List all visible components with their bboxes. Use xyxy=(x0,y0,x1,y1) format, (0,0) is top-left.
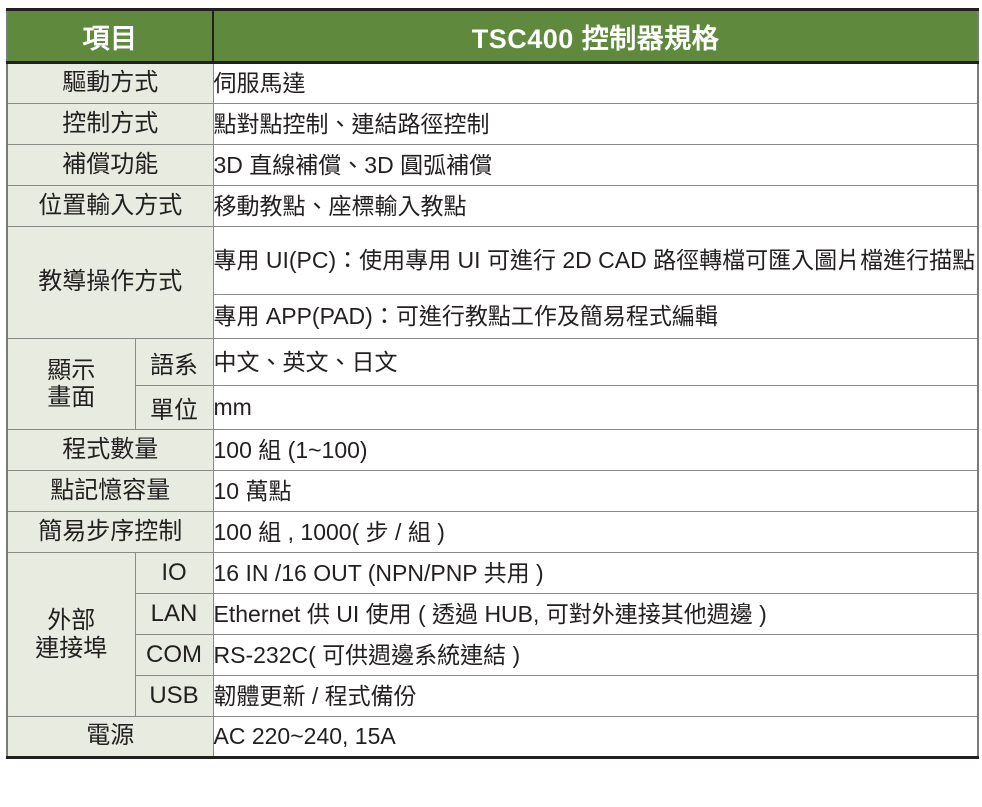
table-row: 單位 mm xyxy=(7,386,978,430)
header-item-label: 項目 xyxy=(7,10,213,63)
sub-label-usb: USB xyxy=(135,676,213,717)
row-value-drive-method: 伺服馬達 xyxy=(213,63,978,104)
header-title: TSC400 控制器規格 xyxy=(213,10,978,63)
sub-label-io: IO xyxy=(135,553,213,594)
table-header-row: 項目 TSC400 控制器規格 xyxy=(7,10,978,63)
row-value-teaching-operation-pad-app: 專用 APP(PAD)：可進行教點工作及簡易程式編輯 xyxy=(213,295,978,339)
row-label-teaching-operation-method: 教導操作方式 xyxy=(7,227,213,339)
table-row: COM RS-232C( 可供週邊系統連結 ) xyxy=(7,635,978,676)
row-value-power-supply: AC 220~240, 15A xyxy=(213,717,978,758)
table-row: 位置輸入方式 移動教點、座標輸入教點 xyxy=(7,186,978,227)
row-label-power-supply: 電源 xyxy=(7,717,213,758)
row-label-program-count: 程式數量 xyxy=(7,430,213,471)
row-value-point-memory-capacity: 10 萬點 xyxy=(213,471,978,512)
table-row: 簡易步序控制 100 組 , 1000( 步 / 組 ) xyxy=(7,512,978,553)
table-row: 點記憶容量 10 萬點 xyxy=(7,471,978,512)
row-value-control-method: 點對點控制、連結路徑控制 xyxy=(213,104,978,145)
row-label-external-ports: 外部 連接埠 xyxy=(7,553,135,717)
row-label-external-ports-line2: 連接埠 xyxy=(8,635,135,662)
table-row: 程式數量 100 組 (1~100) xyxy=(7,430,978,471)
row-value-position-input-method: 移動教點、座標輸入教點 xyxy=(213,186,978,227)
table-row: 補償功能 3D 直線補償、3D 圓弧補償 xyxy=(7,145,978,186)
row-label-external-ports-line1: 外部 xyxy=(8,607,135,634)
row-label-control-method: 控制方式 xyxy=(7,104,213,145)
row-value-teaching-operation-pc-ui: 專用 UI(PC)：使用專用 UI 可進行 2D CAD 路徑轉檔可匯入圖片檔進… xyxy=(213,227,978,295)
tsc400-specification-table: 項目 TSC400 控制器規格 驅動方式 伺服馬達 控制方式 點對點控制、連結路… xyxy=(6,8,979,759)
row-label-display-screen: 顯示 畫面 xyxy=(7,339,135,430)
row-value-language: 中文、英文、日文 xyxy=(213,339,978,386)
specification-table-container: 項目 TSC400 控制器規格 驅動方式 伺服馬達 控制方式 點對點控制、連結路… xyxy=(6,8,977,759)
row-value-program-count: 100 組 (1~100) xyxy=(213,430,978,471)
table-row: 顯示 畫面 語系 中文、英文、日文 xyxy=(7,339,978,386)
row-label-drive-method: 驅動方式 xyxy=(7,63,213,104)
table-row: 教導操作方式 專用 UI(PC)：使用專用 UI 可進行 2D CAD 路徑轉檔… xyxy=(7,227,978,295)
table-row: 電源 AC 220~240, 15A xyxy=(7,717,978,758)
row-label-compensation-function: 補償功能 xyxy=(7,145,213,186)
table-row: 外部 連接埠 IO 16 IN /16 OUT (NPN/PNP 共用 ) xyxy=(7,553,978,594)
table-row: USB 韌體更新 / 程式備份 xyxy=(7,676,978,717)
table-row: 驅動方式 伺服馬達 xyxy=(7,63,978,104)
row-value-com: RS-232C( 可供週邊系統連結 ) xyxy=(213,635,978,676)
sub-label-language: 語系 xyxy=(135,339,213,386)
row-value-usb: 韌體更新 / 程式備份 xyxy=(213,676,978,717)
table-row: LAN Ethernet 供 UI 使用 ( 透過 HUB, 可對外連接其他週邊… xyxy=(7,594,978,635)
row-label-point-memory-capacity: 點記憶容量 xyxy=(7,471,213,512)
row-label-display-screen-line2: 畫面 xyxy=(8,384,135,411)
row-value-compensation-function: 3D 直線補償、3D 圓弧補償 xyxy=(213,145,978,186)
row-label-simple-sequence-control: 簡易步序控制 xyxy=(7,512,213,553)
sub-label-lan: LAN xyxy=(135,594,213,635)
row-value-lan: Ethernet 供 UI 使用 ( 透過 HUB, 可對外連接其他週邊 ) xyxy=(213,594,978,635)
row-label-position-input-method: 位置輸入方式 xyxy=(7,186,213,227)
row-value-unit: mm xyxy=(213,386,978,430)
table-row: 控制方式 點對點控制、連結路徑控制 xyxy=(7,104,978,145)
row-label-display-screen-line1: 顯示 xyxy=(8,357,135,384)
row-value-io: 16 IN /16 OUT (NPN/PNP 共用 ) xyxy=(213,553,978,594)
sub-label-unit: 單位 xyxy=(135,386,213,430)
row-value-simple-sequence-control: 100 組 , 1000( 步 / 組 ) xyxy=(213,512,978,553)
sub-label-com: COM xyxy=(135,635,213,676)
